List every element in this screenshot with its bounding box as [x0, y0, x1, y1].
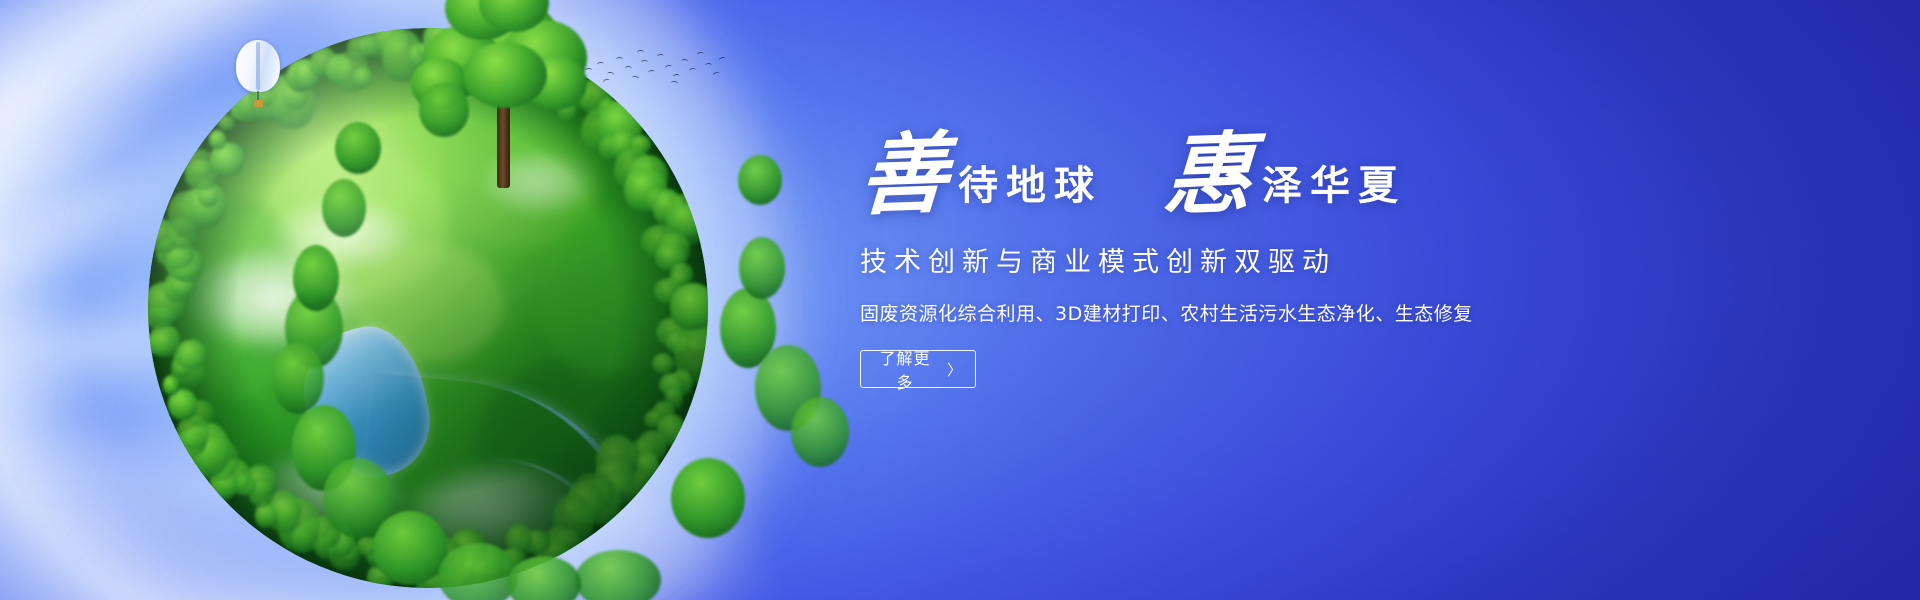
learn-more-label: 了解更多 — [873, 345, 937, 393]
learn-more-button[interactable]: 了解更多 〉 — [860, 350, 976, 388]
cta-row: 了解更多 〉 — [860, 350, 1760, 388]
headline: 善 待地球 惠 泽华夏 — [860, 120, 1760, 218]
hero-banner: 善 待地球 惠 泽华夏 技术创新与商业模式创新双驱动 固废资源化综合利用、3D建… — [0, 0, 1920, 600]
headline-phrase-one: 善 待地球 — [860, 130, 1102, 218]
chevron-right-icon: 〉 — [947, 359, 963, 380]
headline-phrase-two: 惠 泽华夏 — [1164, 130, 1406, 218]
headline-calligraphy-char-shan: 善 — [858, 128, 951, 219]
banner-content: 善 待地球 惠 泽华夏 技术创新与商业模式创新双驱动 固废资源化综合利用、3D建… — [860, 120, 1760, 388]
headline-calligraphy-char-hui: 惠 — [1162, 128, 1255, 219]
headline-rest-zehuaxia: 泽华夏 — [1262, 153, 1406, 211]
subtitle: 技术创新与商业模式创新双驱动 — [860, 240, 1760, 279]
description: 固废资源化综合利用、3D建材打印、农村生活污水生态净化、生态修复 — [860, 299, 1760, 326]
headline-rest-daidiqiu: 待地球 — [958, 153, 1102, 211]
